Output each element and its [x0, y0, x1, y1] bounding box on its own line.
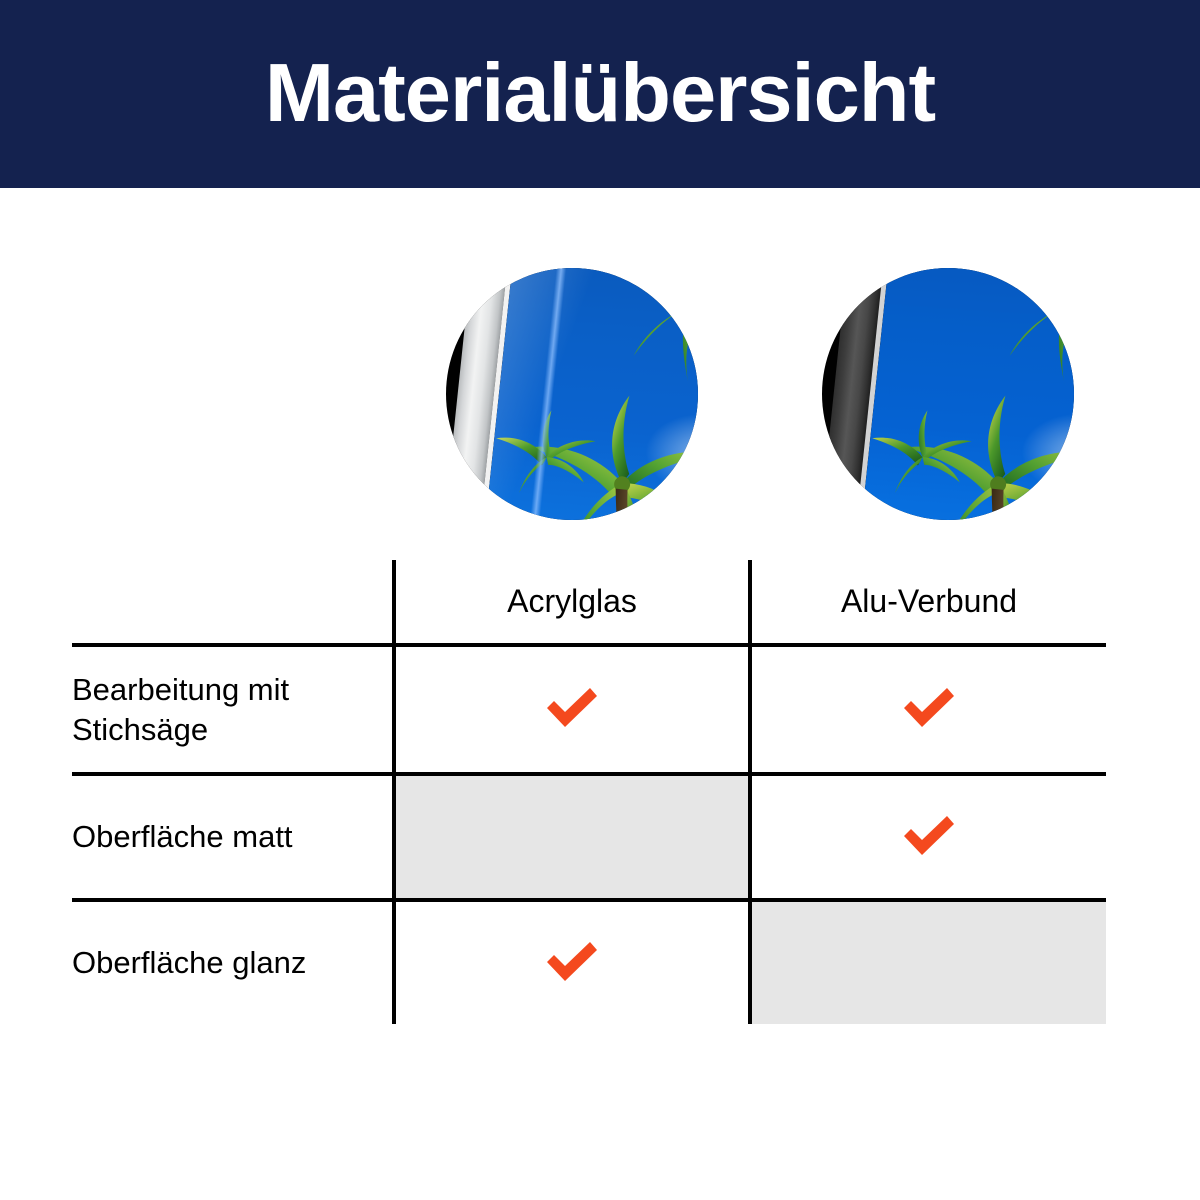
table-row: Oberfläche glanz	[72, 900, 1106, 1024]
table-corner-cell	[72, 560, 394, 645]
printed-photo-acrylglas	[481, 268, 698, 520]
row-label-line-2: Stichsäge	[72, 712, 208, 747]
material-overview-page: Materialübersicht	[0, 0, 1200, 1200]
page-title: Materialübersicht	[265, 51, 935, 134]
row-label-line-1: Bearbeitung mit	[72, 672, 289, 707]
palm-tree-photo-icon	[481, 268, 698, 520]
cell-oberflaeche-glanz-acrylglas	[394, 900, 750, 1024]
palm-tree-photo-icon	[857, 268, 1074, 520]
product-image-alu-verbund	[822, 268, 1074, 520]
table-row: Bearbeitung mit Stichsäge	[72, 645, 1106, 774]
material-comparison-table-wrapper: Acrylglas Alu-Verbund Bearbeitung mit St…	[72, 560, 1106, 1012]
check-icon	[541, 683, 603, 731]
cell-bearbeitung-alu-verbund	[750, 645, 1106, 774]
printed-photo-alu-verbund	[857, 268, 1074, 520]
cell-bearbeitung-acrylglas	[394, 645, 750, 774]
row-label-oberflaeche-matt: Oberfläche matt	[72, 774, 394, 900]
material-comparison-table: Acrylglas Alu-Verbund Bearbeitung mit St…	[72, 560, 1106, 1024]
product-images-row	[0, 268, 1200, 520]
check-icon	[898, 811, 960, 859]
row-label-bearbeitung-mit-stichsaege: Bearbeitung mit Stichsäge	[72, 645, 394, 774]
row-label-oberflaeche-glanz: Oberfläche glanz	[72, 900, 394, 1024]
cell-oberflaeche-matt-acrylglas	[394, 774, 750, 900]
cell-oberflaeche-glanz-alu-verbund	[750, 900, 1106, 1024]
check-icon	[898, 683, 960, 731]
table-row: Oberfläche matt	[72, 774, 1106, 900]
check-icon	[541, 937, 603, 985]
product-image-acrylglas	[446, 268, 698, 520]
cell-oberflaeche-matt-alu-verbund	[750, 774, 1106, 900]
header-banner: Materialübersicht	[0, 0, 1200, 188]
column-header-acrylglas: Acrylglas	[394, 560, 750, 645]
column-header-alu-verbund: Alu-Verbund	[750, 560, 1106, 645]
table-header-row: Acrylglas Alu-Verbund	[72, 560, 1106, 645]
